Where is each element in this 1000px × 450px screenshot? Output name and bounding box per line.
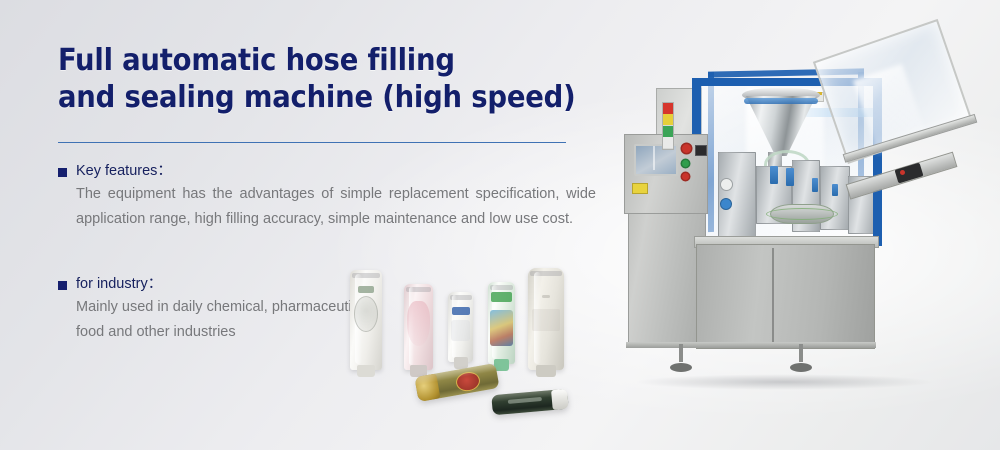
- filling-nozzle-1: [770, 166, 778, 184]
- main-cabinet: [696, 244, 875, 349]
- cabinet-door-seam: [772, 248, 774, 345]
- tower-green-lamp: [663, 126, 673, 137]
- tube-white-blue-tube: [448, 292, 473, 362]
- black-selector-switch[interactable]: [695, 145, 707, 156]
- green-start-button[interactable]: [682, 160, 689, 167]
- tube-green-character-tube: [488, 282, 515, 364]
- sealing-head-2: [832, 184, 838, 196]
- key-features-text: The equipment has the advantages of simp…: [76, 182, 596, 232]
- square-bullet-icon: [58, 168, 67, 177]
- tube-beige-tube-large: [528, 268, 564, 370]
- product-banner: Full automatic hose filling and sealing …: [0, 0, 1000, 450]
- title-divider: [58, 142, 566, 143]
- page-title: Full automatic hose filling and sealing …: [58, 42, 588, 116]
- key-features-heading-row: Key features：: [58, 163, 598, 180]
- for-industry-label: for industry：: [76, 276, 162, 293]
- section-for-industry: for industry： Mainly used in daily chemi…: [58, 276, 368, 345]
- interior-module-1: [718, 152, 756, 240]
- turret-green-ring: [766, 208, 838, 220]
- sealing-head-1: [812, 178, 818, 192]
- filling-nozzle-2: [786, 168, 794, 186]
- pressure-gauge: [720, 178, 733, 191]
- leveling-foot-left: [670, 344, 692, 372]
- tube-pink-tube: [404, 284, 433, 370]
- ce-label: [632, 183, 648, 194]
- for-industry-text: Mainly used in daily chemical, pharmaceu…: [76, 295, 376, 345]
- emergency-stop-button[interactable]: [682, 144, 691, 153]
- hopper-blue-band: [744, 98, 818, 104]
- headline-block: Full automatic hose filling and sealing …: [58, 42, 588, 116]
- tower-red-lamp: [663, 103, 673, 114]
- tower-white-lamp: [663, 137, 673, 148]
- cosmetic-hose-tubes-photo: [342, 252, 600, 422]
- tube-dark-green-tube: [491, 389, 568, 416]
- leveling-foot-right: [790, 344, 812, 372]
- cabinet-plinth: [626, 342, 876, 348]
- blue-regulator-knob: [720, 198, 732, 210]
- hmi-screen-divider: [653, 146, 655, 170]
- hose-filling-sealing-machine-photo: [596, 26, 1000, 398]
- for-industry-heading-row: for industry：: [58, 276, 368, 293]
- conveyor-indicator-light: [900, 170, 905, 175]
- red-stop-button[interactable]: [682, 173, 689, 180]
- tube-white-tube-large: [350, 270, 382, 370]
- square-bullet-icon: [58, 281, 67, 290]
- key-features-label: Key features：: [76, 163, 172, 180]
- signal-tower-light: [662, 102, 674, 150]
- machine-ground-shadow: [634, 374, 934, 390]
- section-key-features: Key features： The equipment has the adva…: [58, 163, 598, 232]
- tower-yellow-lamp: [663, 114, 673, 125]
